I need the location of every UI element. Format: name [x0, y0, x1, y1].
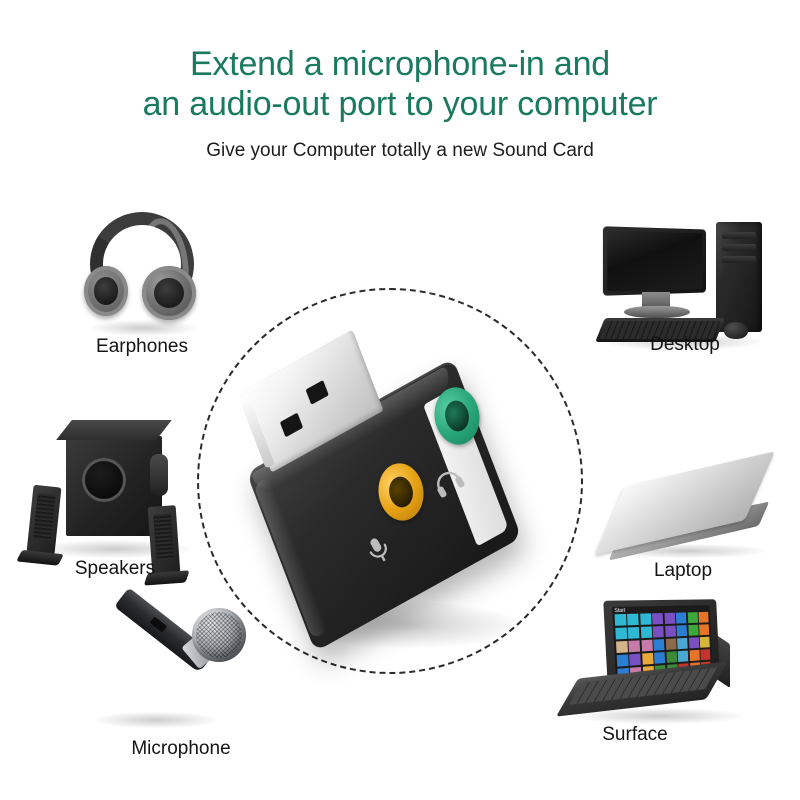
- start-tile: [654, 652, 665, 664]
- jack-hole: [385, 472, 416, 511]
- caption-surface: Surface: [540, 724, 730, 746]
- caption-earphones: Earphones: [52, 336, 232, 358]
- start-tile: [700, 636, 710, 647]
- subwoofer: [66, 436, 162, 536]
- start-tile: [640, 613, 651, 625]
- start-tile: [664, 613, 675, 625]
- start-tile: [699, 612, 709, 623]
- start-tile: [678, 650, 689, 662]
- earphones-shadow: [92, 320, 196, 336]
- start-tile: [628, 627, 640, 639]
- drive-bay: [722, 232, 756, 239]
- start-tile: [615, 614, 627, 626]
- start-tile: [666, 651, 677, 663]
- start-tile: [688, 625, 698, 637]
- usb-sound-card-adapter: [238, 340, 568, 660]
- mic-switch: [150, 616, 168, 632]
- start-tile: [641, 639, 652, 651]
- page-title: Extend a microphone-in and an audio-out …: [0, 44, 800, 124]
- start-tile: [652, 613, 663, 625]
- headline-line-2: an audio-out port to your computer: [143, 85, 658, 123]
- device-speakers: [24, 420, 204, 550]
- start-tile: [615, 627, 627, 639]
- start-tile: [666, 638, 677, 650]
- start-tile: [653, 626, 664, 638]
- caption-laptop: Laptop: [588, 560, 778, 582]
- jack-hole: [441, 396, 472, 435]
- monitor-screen: [607, 231, 702, 292]
- start-tile: [641, 626, 652, 638]
- earcup-inner: [154, 278, 184, 308]
- headline-line-1: Extend a microphone-in and: [190, 45, 610, 83]
- start-tile: [689, 649, 699, 661]
- speaker-grille: [153, 513, 174, 560]
- headphones-icon: [82, 212, 202, 322]
- start-tile: [700, 649, 710, 661]
- start-tile: [687, 612, 697, 623]
- volume-knob: [150, 454, 168, 496]
- device-microphone: [100, 608, 260, 728]
- drive-bay: [722, 256, 756, 263]
- connector-tip: [239, 394, 275, 469]
- device-earphones: [82, 212, 212, 332]
- usb-slot-right: [306, 380, 329, 405]
- start-tile: [616, 641, 628, 654]
- subwoofer-top: [56, 420, 172, 440]
- caption-speakers: Speakers: [20, 558, 210, 580]
- earcup-left: [84, 266, 128, 316]
- start-tile: [627, 614, 639, 626]
- monitor-base: [624, 306, 690, 318]
- speaker-grille: [33, 493, 56, 541]
- promo-banner: Extend a microphone-in and an audio-out …: [0, 0, 800, 800]
- start-tile: [630, 653, 642, 666]
- monitor: [603, 226, 706, 295]
- device-laptop: [600, 470, 780, 562]
- pc-tower: [716, 222, 762, 332]
- start-tile: [629, 640, 641, 652]
- usb-slot-left: [280, 413, 303, 438]
- caption-microphone: Microphone: [86, 738, 276, 760]
- mic-grille-head: [192, 608, 246, 662]
- start-tile: [665, 625, 676, 637]
- start-tile: [617, 654, 629, 667]
- earcup-inner: [94, 277, 119, 305]
- start-tile: [699, 624, 709, 635]
- handheld-microphone-icon: [100, 608, 250, 728]
- start-tile: [676, 612, 687, 624]
- drive-bay: [722, 244, 756, 251]
- start-tile: [642, 652, 653, 664]
- start-label: Start: [614, 608, 625, 615]
- start-tile: [689, 637, 699, 649]
- start-tile: [654, 639, 665, 651]
- caption-desktop: Desktop: [590, 334, 780, 356]
- earcup-right: [142, 266, 196, 320]
- device-surface: Start: [572, 600, 762, 724]
- body-side-highlight: [253, 476, 328, 639]
- start-tile: [677, 625, 688, 637]
- start-tile: [677, 638, 688, 650]
- bass-port: [82, 458, 126, 502]
- page-subtitle: Give your Computer totally a new Sound C…: [0, 140, 800, 162]
- device-desktop: [600, 222, 770, 344]
- type-cover-keys: [569, 667, 719, 705]
